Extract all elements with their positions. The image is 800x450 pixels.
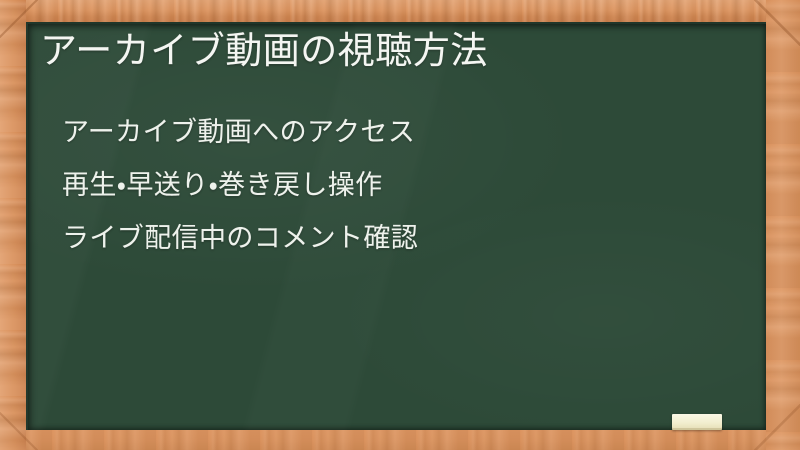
frame-ledge-bottom (0, 428, 800, 450)
topic-list-item: ライブ配信中のコメント確認 (62, 212, 418, 265)
blackboard-slide: アーカイブ動画の視聴方法 アーカイブ動画へのアクセス 再生・早送り・巻き戻し操作… (0, 0, 800, 450)
slide-title: アーカイブ動画の視聴方法 (40, 28, 740, 74)
frame-plank-right (766, 0, 800, 450)
chalkboard-content: アーカイブ動画の視聴方法 アーカイブ動画へのアクセス 再生・早送り・巻き戻し操作… (28, 24, 766, 430)
topic-list-item: 再生・早送り・巻き戻し操作 (62, 159, 418, 212)
chalkboard-surface: アーカイブ動画の視聴方法 アーカイブ動画へのアクセス 再生・早送り・巻き戻し操作… (26, 22, 766, 430)
chalk-eraser-icon (672, 414, 722, 430)
frame-plank-top (0, 0, 800, 24)
frame-plank-left (0, 0, 26, 450)
topic-list: アーカイブ動画へのアクセス 再生・早送り・巻き戻し操作 ライブ配信中のコメント確… (62, 106, 418, 265)
topic-list-item: アーカイブ動画へのアクセス (62, 106, 418, 159)
